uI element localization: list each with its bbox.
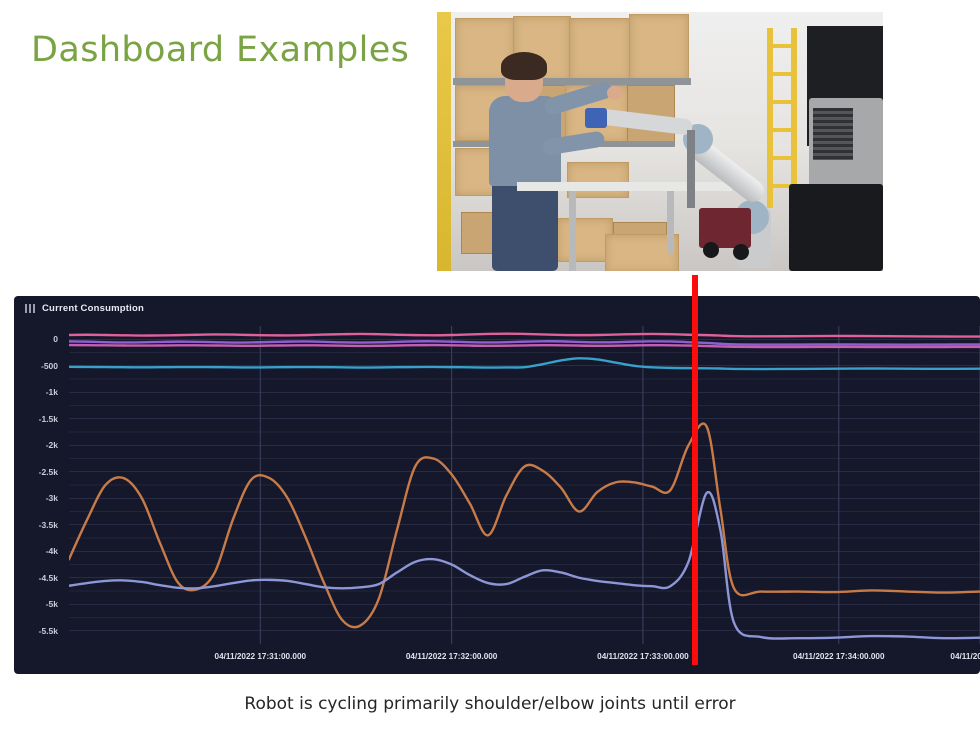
series-lines — [69, 334, 980, 639]
error-time-marker — [692, 275, 698, 665]
photo-worktable — [517, 182, 732, 191]
y-tick-label: -1.5k — [39, 414, 58, 424]
series-line-joint-shoulder — [69, 492, 980, 638]
photo-table-leg — [667, 191, 674, 253]
panel-header[interactable]: Current Consumption — [14, 296, 980, 320]
photo-cart-wheel — [733, 244, 749, 260]
x-tick-label: 04/11/2022 17:33:00.000 — [597, 652, 689, 661]
page-title: Dashboard Examples — [31, 30, 409, 70]
y-tick-label: -2k — [46, 440, 58, 450]
series-line-joint-shoulder-low — [69, 358, 980, 369]
photo-box — [569, 18, 631, 82]
photo-machine-vent — [813, 108, 853, 160]
y-tick-label: -5.5k — [39, 626, 58, 636]
y-tick-label: -3k — [46, 493, 58, 503]
y-tick-label: -500 — [41, 361, 58, 371]
y-tick-label: 0 — [53, 334, 58, 344]
photo-box — [629, 14, 689, 82]
photo-ladder — [767, 28, 797, 208]
x-tick-label: 04/11/2022 17:34:00.000 — [793, 652, 885, 661]
panel-title: Current Consumption — [42, 303, 144, 314]
x-tick-label: 04/11/2022 17:31:00.000 — [215, 652, 307, 661]
chart-canvas — [69, 326, 980, 644]
photo-cart-wheel — [703, 242, 719, 258]
series-line-joint-elbow — [69, 424, 980, 628]
x-tick-label: 04/11/2022 17:3 — [950, 652, 980, 661]
photo-pole — [687, 130, 695, 208]
slide-caption: Robot is cycling primarily shoulder/elbo… — [0, 694, 980, 714]
photo-box — [567, 162, 629, 198]
series-line-joint-wrist — [69, 341, 980, 344]
robot-cell-photo — [437, 12, 883, 271]
photo-equipment — [789, 184, 883, 271]
photo-yellow-post — [437, 12, 451, 271]
photo-person-hair — [501, 52, 547, 80]
x-tick-label: 04/11/2022 17:32:00.000 — [406, 652, 498, 661]
series-line-joint-base — [69, 334, 980, 337]
y-tick-label: -2.5k — [39, 467, 58, 477]
photo-robot-gripper — [585, 108, 607, 128]
y-tick-label: -1k — [46, 387, 58, 397]
photo-person-legs — [492, 180, 558, 271]
y-tick-label: -4k — [46, 546, 58, 556]
current-consumption-panel[interactable]: Current Consumption 0-500-1k-1.5k-2k-2.5… — [14, 296, 980, 674]
y-tick-label: -4.5k — [39, 573, 58, 583]
y-tick-label: -5k — [46, 599, 58, 609]
photo-person-hand — [607, 86, 623, 100]
drag-handle-icon[interactable] — [25, 304, 35, 313]
y-axis-labels: 0-500-1k-1.5k-2k-2.5k-3k-3.5k-4k-4.5k-5k… — [14, 326, 64, 644]
photo-shelf — [453, 78, 691, 85]
photo-table-leg — [569, 191, 576, 271]
x-axis-labels: 04/11/2022 17:31:00.00004/11/2022 17:32:… — [69, 652, 980, 668]
y-tick-label: -3.5k — [39, 520, 58, 530]
plot-area[interactable] — [69, 326, 980, 644]
